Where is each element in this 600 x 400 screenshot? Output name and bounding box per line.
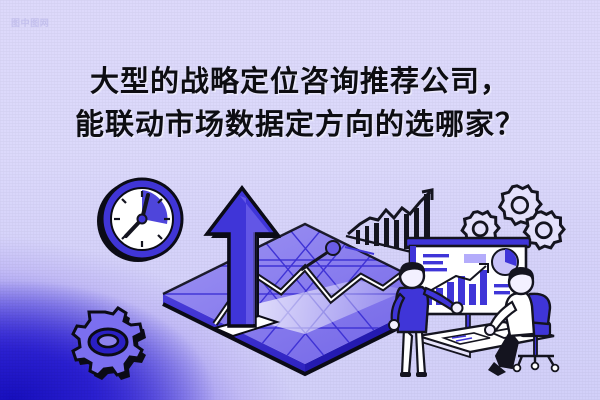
- watermark-text: 图中图网: [11, 16, 49, 29]
- analysis-clock: [97, 176, 183, 264]
- person-standing-shoe-left: [400, 372, 411, 377]
- bar-sketch-accent-line: [345, 247, 374, 254]
- person-seated-hand: [485, 325, 495, 335]
- presentation-scene: [378, 232, 583, 382]
- headline-line-1: 大型的战略定位咨询推荐公司，: [0, 60, 600, 103]
- person-standing-hand-left: [389, 320, 399, 330]
- person-standing-leg-left: [402, 328, 412, 374]
- headline-line-2: 能联动市场数据定方向的选哪家？: [0, 103, 600, 146]
- clock-center-pin: [138, 215, 147, 224]
- person-standing-hand-right: [452, 303, 463, 314]
- poster-headline: 大型的战略定位咨询推荐公司， 能联动市场数据定方向的选哪家？: [0, 60, 600, 146]
- gear-large-bore: [98, 335, 118, 347]
- gear-large: [62, 306, 148, 386]
- person-standing-shoe-right: [416, 372, 427, 377]
- board-highlight-block: [464, 254, 486, 263]
- poster-canvas: 图中图网 大型的战略定位咨询推荐公司， 能联动市场数据定方向的选哪家？: [0, 0, 600, 400]
